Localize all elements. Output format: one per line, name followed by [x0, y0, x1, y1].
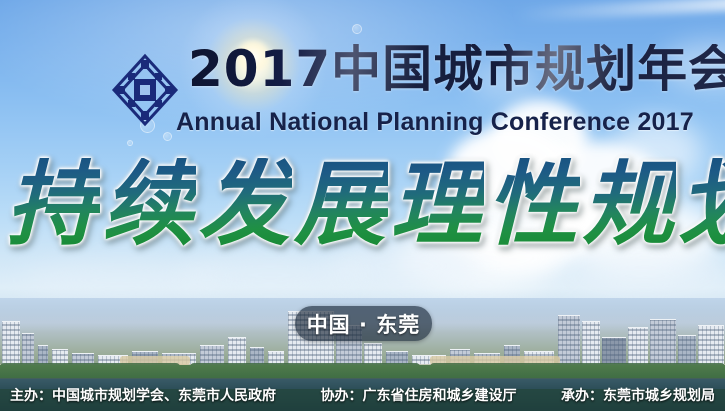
- slogan-right: 理 性 规 划: [388, 158, 725, 250]
- lens-bubble: [127, 140, 133, 146]
- slogan-char: 持: [4, 158, 100, 250]
- slogan-char: 划: [676, 158, 725, 250]
- slogan-char: 续: [100, 158, 196, 250]
- slogan: 持 续 发 展 理 性 规 划: [0, 148, 725, 260]
- credit-organizer: 主办：中国城市规划学会、东莞市人民政府: [10, 385, 276, 405]
- credit-host: 承办：东莞市城乡规划局: [561, 385, 715, 405]
- conference-poster: 2017中国城市规划年会 Annual National Planning Co…: [0, 0, 725, 411]
- credit-co-organizer: 协办：广东省住房和城乡建设厅: [321, 385, 517, 405]
- lens-bubble: [352, 24, 362, 34]
- slogan-char: 发: [196, 158, 292, 250]
- slogan-char: 性: [484, 158, 580, 250]
- page-title: 2017中国城市规划年会: [188, 44, 725, 94]
- slogan-char: 理: [388, 158, 484, 250]
- credits-bar: 主办：中国城市规划学会、东莞市人民政府 协办：广东省住房和城乡建设厅 承办：东莞…: [0, 378, 725, 411]
- conference-logo: [108, 52, 182, 128]
- location-badge: 中国 · 东莞: [295, 306, 432, 341]
- slogan-char: 展: [292, 158, 388, 250]
- diamond-square-emblem-icon: [108, 52, 182, 128]
- location-badge-label: 中国 · 东莞: [307, 309, 421, 339]
- page-subtitle: Annual National Planning Conference 2017: [176, 108, 694, 137]
- slogan-left: 持 续 发 展: [4, 158, 388, 250]
- lens-bubble: [163, 132, 172, 141]
- slogan-char: 规: [580, 158, 676, 250]
